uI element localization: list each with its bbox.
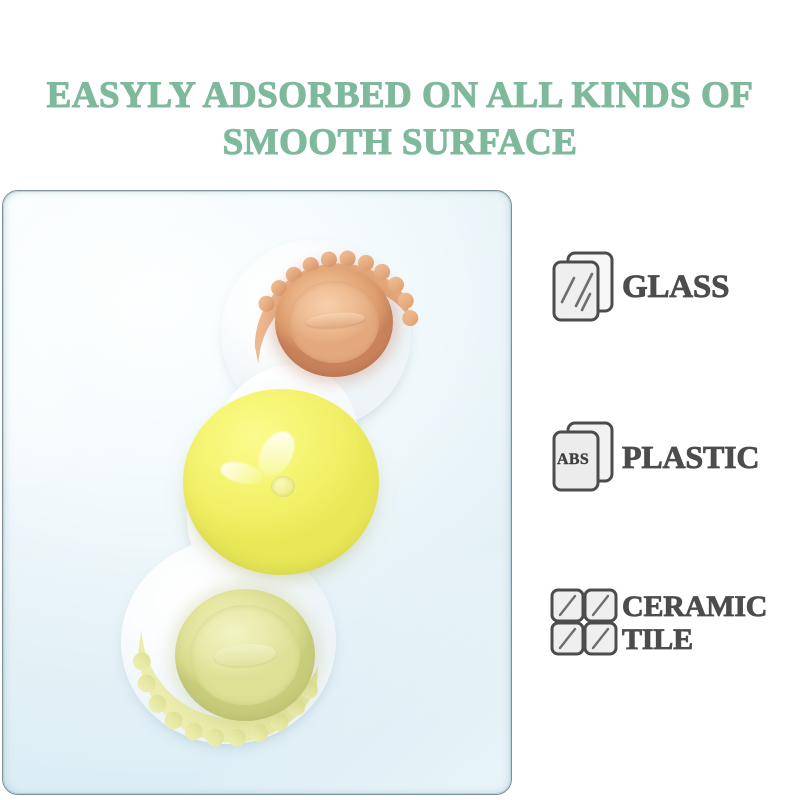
green-suction-cup (175, 589, 315, 721)
abs-badge-text: ABS (557, 451, 589, 469)
glass-panes-icon (548, 248, 622, 326)
suction-spinner-toy (3, 191, 511, 794)
product-feature-page: EASYLY ADSORBED ON ALL KINDS OF SMOOTH S… (0, 0, 800, 800)
surface-compatibility-list: GLASS ABS PLASTIC (548, 190, 800, 795)
page-title: EASYLY ADSORBED ON ALL KINDS OF SMOOTH S… (0, 72, 800, 166)
feature-label-ceramic-tile: CERAMIC TILE (622, 590, 767, 656)
orange-suction-cup (275, 267, 393, 377)
ceramic-tile-grid-icon (548, 584, 622, 662)
feature-label-glass: GLASS (622, 270, 729, 304)
feature-label-plastic: PLASTIC (622, 440, 759, 474)
plastic-abs-cards-icon: ABS (548, 418, 622, 496)
feature-item-plastic: ABS PLASTIC (548, 418, 759, 496)
yellow-spinner-dome (183, 389, 379, 575)
product-photo (2, 190, 512, 795)
dome-pivot-point (271, 476, 295, 496)
feature-item-glass: GLASS (548, 248, 729, 326)
feature-item-ceramic-tile: CERAMIC TILE (548, 584, 767, 662)
